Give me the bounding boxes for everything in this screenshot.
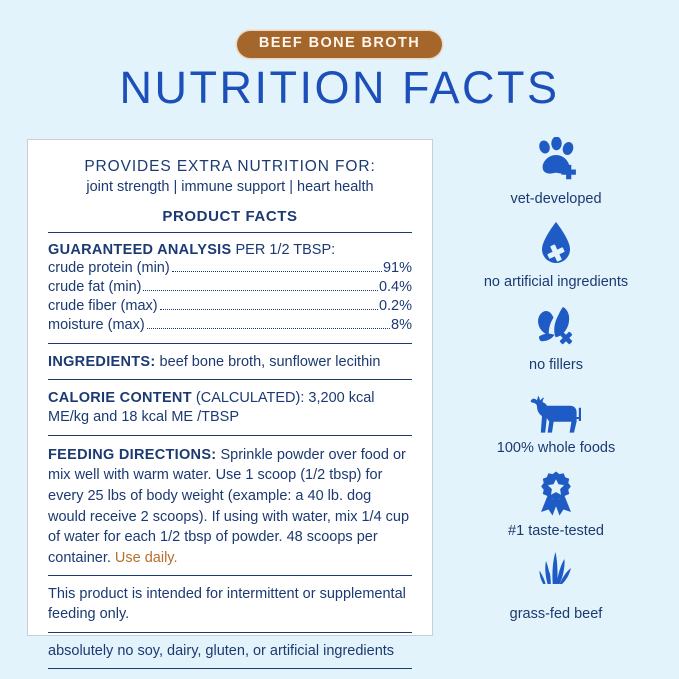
- award-ribbon-icon: [433, 465, 679, 517]
- list-item: grass-fed beef: [433, 548, 679, 623]
- benefit-label: grass-fed beef: [433, 607, 679, 623]
- nutrient-label: moisture (max): [48, 316, 145, 335]
- benefit-label: 100% whole foods: [433, 441, 679, 457]
- nutrient-label: crude fiber (max): [48, 297, 158, 316]
- ingredients-label: INGREDIENTS:: [48, 354, 156, 370]
- page-title: NUTRITION FACTS: [0, 63, 679, 113]
- product-facts-heading: PRODUCT FACTS: [48, 208, 412, 225]
- list-item: vet-developed: [433, 133, 679, 208]
- provides-heading: PROVIDES EXTRA NUTRITION FOR:: [48, 158, 412, 176]
- list-item: #1 taste-tested: [433, 465, 679, 540]
- use-daily-highlight: Use daily.: [115, 550, 178, 566]
- leader-dots: [172, 271, 382, 272]
- table-row: crude fat (min) 0.4%: [48, 278, 412, 297]
- nutrient-label: crude protein (min): [48, 259, 170, 278]
- calorie-content-label: CALORIE CONTENT: [48, 390, 192, 406]
- benefit-icon-list: vet-developed no artificial ingredients: [433, 133, 679, 631]
- nutrient-value: 8%: [391, 316, 412, 335]
- paw-plus-icon: [433, 133, 679, 185]
- divider: [48, 379, 412, 380]
- leader-dots: [143, 290, 377, 291]
- divider: [48, 632, 412, 633]
- guaranteed-analysis-label: GUARANTEED ANALYSIS: [48, 242, 231, 258]
- leader-dots: [160, 309, 378, 310]
- divider: [48, 343, 412, 344]
- nutrient-value: 0.2%: [379, 297, 412, 316]
- feeding-directions-section: FEEDING DIRECTIONS: Sprinkle powder over…: [48, 445, 412, 568]
- table-row: moisture (max) 8%: [48, 316, 412, 335]
- nutrient-label: crude fat (min): [48, 278, 141, 297]
- cow-icon: [433, 382, 679, 434]
- table-row: crude fiber (max) 0.2%: [48, 297, 412, 316]
- free-from-statement: absolutely no soy, dairy, gluten, or art…: [48, 642, 412, 662]
- feeding-directions-text: Sprinkle powder over food or mix well wi…: [48, 447, 409, 566]
- water-drop-x-icon: [433, 216, 679, 268]
- calorie-content-section: CALORIE CONTENT (CALCULATED): 3,200 kcal…: [48, 389, 412, 428]
- corn-x-icon: [433, 299, 679, 351]
- guaranteed-analysis-heading: GUARANTEED ANALYSIS PER 1/2 TBSP:: [48, 242, 412, 258]
- benefit-label: #1 taste-tested: [433, 524, 679, 540]
- product-badge: BEEF BONE BROTH: [237, 31, 442, 58]
- nutrient-value: 91%: [383, 259, 412, 278]
- divider: [48, 575, 412, 576]
- ingredients-section: INGREDIENTS: beef bone broth, sunflower …: [48, 353, 412, 372]
- product-badge-container: BEEF BONE BROTH: [0, 31, 679, 58]
- nutrient-value: 0.4%: [379, 278, 412, 297]
- divider: [48, 435, 412, 436]
- benefit-label: no fillers: [433, 358, 679, 374]
- intermittent-feeding-notice: This product is intended for intermitten…: [48, 585, 412, 624]
- feeding-directions-label: FEEDING DIRECTIONS:: [48, 447, 216, 463]
- benefit-label: vet-developed: [433, 192, 679, 208]
- ingredients-text: beef bone broth, sunflower lecithin: [156, 354, 381, 370]
- grass-icon: [433, 548, 679, 600]
- provides-benefits: joint strength | immune support | heart …: [48, 179, 412, 195]
- list-item: no artificial ingredients: [433, 216, 679, 291]
- divider: [48, 232, 412, 233]
- leader-dots: [147, 328, 390, 329]
- list-item: 100% whole foods: [433, 382, 679, 457]
- list-item: no fillers: [433, 299, 679, 374]
- benefit-label: no artificial ingredients: [433, 275, 679, 291]
- table-row: crude protein (min) 91%: [48, 259, 412, 278]
- nutrition-facts-panel: PROVIDES EXTRA NUTRITION FOR: joint stre…: [27, 139, 433, 636]
- guaranteed-analysis-serving: PER 1/2 TBSP:: [231, 242, 335, 258]
- divider: [48, 668, 412, 669]
